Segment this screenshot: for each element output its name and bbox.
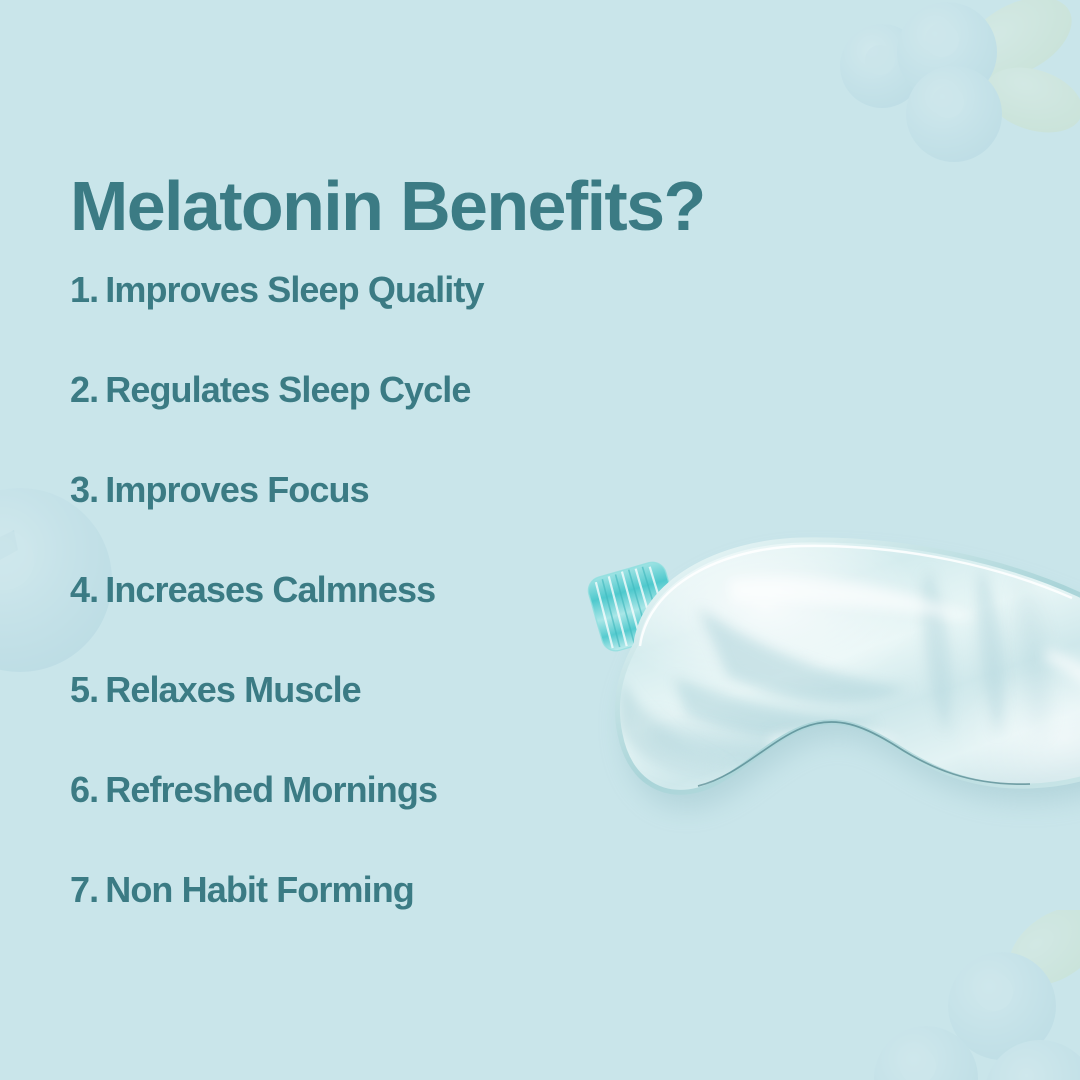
list-item-index: 3. (70, 469, 98, 510)
list-item-label: Improves Sleep Quality (105, 269, 483, 310)
list-item: 1.Improves Sleep Quality (70, 268, 690, 368)
list-item: 2.Regulates Sleep Cycle (70, 368, 690, 468)
list-item-index: 5. (70, 669, 98, 710)
list-item-label: Regulates Sleep Cycle (105, 369, 470, 410)
blueberry-cluster-icon (822, 0, 1080, 212)
list-item-label: Increases Calmness (105, 569, 435, 610)
list-item-index: 4. (70, 569, 98, 610)
list-item-index: 6. (70, 769, 98, 810)
list-item-label: Relaxes Muscle (105, 669, 361, 710)
social-media-graphic: Melatonin Benefits? 1.Improves Sleep Qua… (0, 0, 1080, 1080)
mask-body (617, 540, 1080, 792)
list-item-index: 1. (70, 269, 98, 310)
list-item-label: Refreshed Mornings (105, 769, 437, 810)
list-item-index: 7. (70, 869, 98, 910)
list-item-label: Improves Focus (105, 469, 368, 510)
page-title: Melatonin Benefits? (70, 171, 705, 241)
blueberry-cluster-icon (860, 910, 1080, 1080)
list-item-label: Non Habit Forming (105, 869, 414, 910)
list-item-index: 2. (70, 369, 98, 410)
sleep-mask-image (578, 528, 1080, 900)
